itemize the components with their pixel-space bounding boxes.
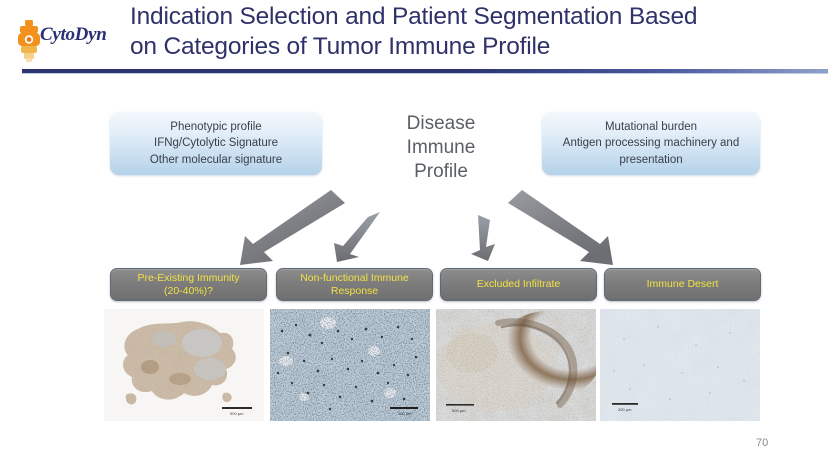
disease-immune-profile-line2: Immune (366, 136, 516, 160)
category-label-line1-2: Excluded Infiltrate (447, 278, 590, 291)
svg-text:500 µm: 500 µm (230, 411, 244, 416)
arrow-to-non-functional-immune-response (334, 212, 380, 262)
arrow-to-pre-existing-immunity (240, 190, 345, 265)
disease-immune-profile-line3: Profile (366, 160, 516, 184)
cytodyn-logo: CytoDyn (8, 18, 120, 62)
page-title: Indication Selection and Patient Segment… (130, 2, 820, 62)
arrow-to-excluded-infiltrate (471, 215, 495, 261)
svg-text:200 µm: 200 µm (398, 411, 412, 416)
arrow-to-immune-desert (508, 190, 613, 265)
category-bar-immune-desert[interactable]: Immune Desert (604, 268, 761, 301)
mutational-burden-line3: presentation (550, 152, 752, 169)
slide-header: CytoDyn Indication Selection and Patient… (0, 0, 830, 72)
disease-immune-profile-line1: Disease (366, 112, 516, 136)
page-title-line1: Indication Selection and Patient Segment… (130, 3, 697, 30)
slide-canvas: CytoDyn Indication Selection and Patient… (0, 0, 830, 467)
svg-text:200 µm: 200 µm (618, 407, 632, 412)
phenotypic-profile-line3: Other molecular signature (118, 152, 314, 169)
page-title-line2: on Categories of Tumor Immune Profile (130, 32, 820, 62)
mutational-burden-box: Mutational burden Antigen processing mac… (542, 112, 760, 175)
phenotypic-profile-line2: IFNg/Cytolytic Signature (118, 135, 314, 152)
logo-wordmark: CytoDyn (40, 24, 107, 46)
category-label-line1-1: Non-functional Immune (283, 272, 426, 285)
phenotypic-profile-line1: Phenotypic profile (118, 119, 314, 136)
svg-text:500 µm: 500 µm (452, 408, 466, 413)
category-label-line1-3: Immune Desert (611, 278, 754, 291)
category-label-line1-0: Pre-Existing Immunity (117, 272, 260, 285)
histology-image-excluded-infiltrate: 500 µm (436, 309, 596, 421)
header-divider-rule (22, 69, 828, 73)
disease-immune-profile-label: Disease Immune Profile (366, 112, 516, 184)
mutational-burden-line1: Mutational burden (550, 119, 752, 136)
category-bar-pre-existing-immunity[interactable]: Pre-Existing Immunity (20-40%)? (110, 268, 267, 301)
histology-image-non-functional-immune-response: 200 µm (270, 309, 430, 421)
page-number: 70 (756, 437, 768, 449)
category-bar-excluded-infiltrate[interactable]: Excluded Infiltrate (440, 268, 597, 301)
mutational-burden-line2: Antigen processing machinery and (550, 135, 752, 152)
category-label-line2-0: (20-40%)? (117, 285, 260, 298)
category-bar-non-functional-immune-response[interactable]: Non-functional Immune Response (276, 268, 433, 301)
phenotypic-profile-box: Phenotypic profile IFNg/Cytolytic Signat… (110, 112, 322, 175)
histology-image-pre-existing-immunity: 500 µm (104, 309, 264, 421)
histology-image-immune-desert: 200 µm (600, 309, 760, 421)
cytodyn-capsule-logo-icon (16, 20, 42, 62)
category-label-line2-1: Response (283, 285, 426, 298)
